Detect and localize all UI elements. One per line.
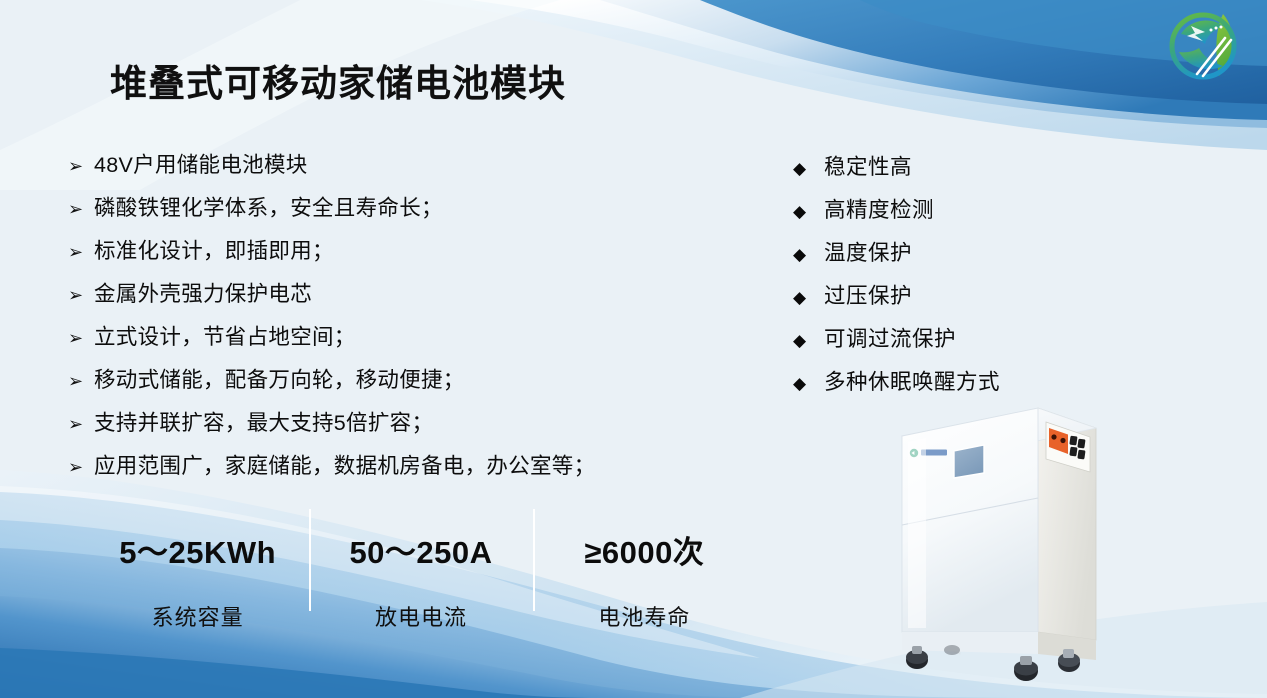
left-feature-list: ➢ 48V户用储能电池模块 ➢ 磷酸铁锂化学体系，安全且寿命长； ➢ 标准化设计… xyxy=(68,148,748,492)
list-item-label: 稳定性高 xyxy=(824,150,912,181)
diamond-bullet-icon: ◆ xyxy=(793,332,824,349)
arrow-bullet-icon: ➢ xyxy=(68,243,94,261)
battery-cabinet-illustration xyxy=(886,392,1122,682)
diamond-bullet-icon: ◆ xyxy=(793,375,824,392)
list-item: ➢ 标准化设计，即插即用； xyxy=(68,234,748,277)
list-item-label: 金属外壳强力保护电芯 xyxy=(94,277,312,308)
arrow-bullet-icon: ➢ xyxy=(68,415,94,433)
list-item-label: 可调过流保护 xyxy=(824,322,956,353)
list-item-label: 温度保护 xyxy=(824,236,912,267)
stat-label: 电池寿命 xyxy=(533,600,756,632)
list-item: ➢ 应用范围广，家庭储能，数据机房备电，办公室等； xyxy=(68,449,748,492)
stat-value: ≥6000次 xyxy=(533,527,756,572)
list-item: ➢ 立式设计，节省占地空间； xyxy=(68,320,748,363)
stat-battery-life: ≥6000次 电池寿命 xyxy=(533,505,756,615)
list-item-label: 立式设计，节省占地空间； xyxy=(94,320,356,351)
list-item-label: 支持并联扩容，最大支持5倍扩容； xyxy=(94,406,433,437)
stat-discharge-current: 50～250A 放电电流 xyxy=(309,505,532,615)
arrow-bullet-icon: ➢ xyxy=(68,372,94,390)
arrow-bullet-icon: ➢ xyxy=(68,157,94,175)
list-item: ◆ 可调过流保护 xyxy=(793,322,1083,365)
stat-value: 50～250A xyxy=(309,527,532,572)
list-item: ➢ 金属外壳强力保护电芯 xyxy=(68,277,748,320)
diamond-bullet-icon: ◆ xyxy=(793,203,824,220)
arrow-bullet-icon: ➢ xyxy=(68,286,94,304)
list-item: ◆ 高精度检测 xyxy=(793,193,1083,236)
list-item-label: 磷酸铁锂化学体系，安全且寿命长； xyxy=(94,191,443,222)
list-item: ◆ 过压保护 xyxy=(793,279,1083,322)
list-item-label: 高精度检测 xyxy=(824,193,934,224)
diamond-bullet-icon: ◆ xyxy=(793,160,824,177)
arrow-bullet-icon: ➢ xyxy=(68,458,94,476)
arrow-bullet-icon: ➢ xyxy=(68,200,94,218)
company-logo xyxy=(1167,8,1243,84)
stat-label: 放电电流 xyxy=(309,600,532,632)
list-item-label: 48V户用储能电池模块 xyxy=(94,148,308,179)
list-item: ➢ 48V户用储能电池模块 xyxy=(68,148,748,191)
page-title: 堆叠式可移动家储电池模块 xyxy=(110,53,566,107)
slide-canvas: 堆叠式可移动家储电池模块 ➢ 48V户用储能电池模块 ➢ 磷酸铁锂化学体系，安全… xyxy=(0,0,1267,698)
product-image xyxy=(886,392,1122,682)
diamond-bullet-icon: ◆ xyxy=(793,246,824,263)
diamond-bullet-icon: ◆ xyxy=(793,289,824,306)
arrow-bullet-icon: ➢ xyxy=(68,329,94,347)
stat-label: 系统容量 xyxy=(86,600,309,632)
list-item-label: 标准化设计，即插即用； xyxy=(94,234,334,265)
list-item: ➢ 支持并联扩容，最大支持5倍扩容； xyxy=(68,406,748,449)
list-item-label: 移动式储能，配备万向轮，移动便捷； xyxy=(94,363,465,394)
list-item: ➢ 磷酸铁锂化学体系，安全且寿命长； xyxy=(68,191,748,234)
stat-system-capacity: 5～25KWh 系统容量 xyxy=(86,505,309,615)
list-item-label: 过压保护 xyxy=(824,279,912,310)
right-feature-list: ◆ 稳定性高 ◆ 高精度检测 ◆ 温度保护 ◆ 过压保护 ◆ 可调过流保护 ◆ … xyxy=(793,150,1083,408)
spec-stats-row: 5～25KWh 系统容量 50～250A 放电电流 ≥6000次 电池寿命 xyxy=(86,505,756,615)
stat-value: 5～25KWh xyxy=(86,527,309,572)
list-item-label: 应用范围广，家庭储能，数据机房备电，办公室等； xyxy=(94,449,595,480)
leaf-circle-logo-icon xyxy=(1167,8,1243,84)
list-item: ◆ 温度保护 xyxy=(793,236,1083,279)
list-item: ➢ 移动式储能，配备万向轮，移动便捷； xyxy=(68,363,748,406)
list-item: ◆ 稳定性高 xyxy=(793,150,1083,193)
